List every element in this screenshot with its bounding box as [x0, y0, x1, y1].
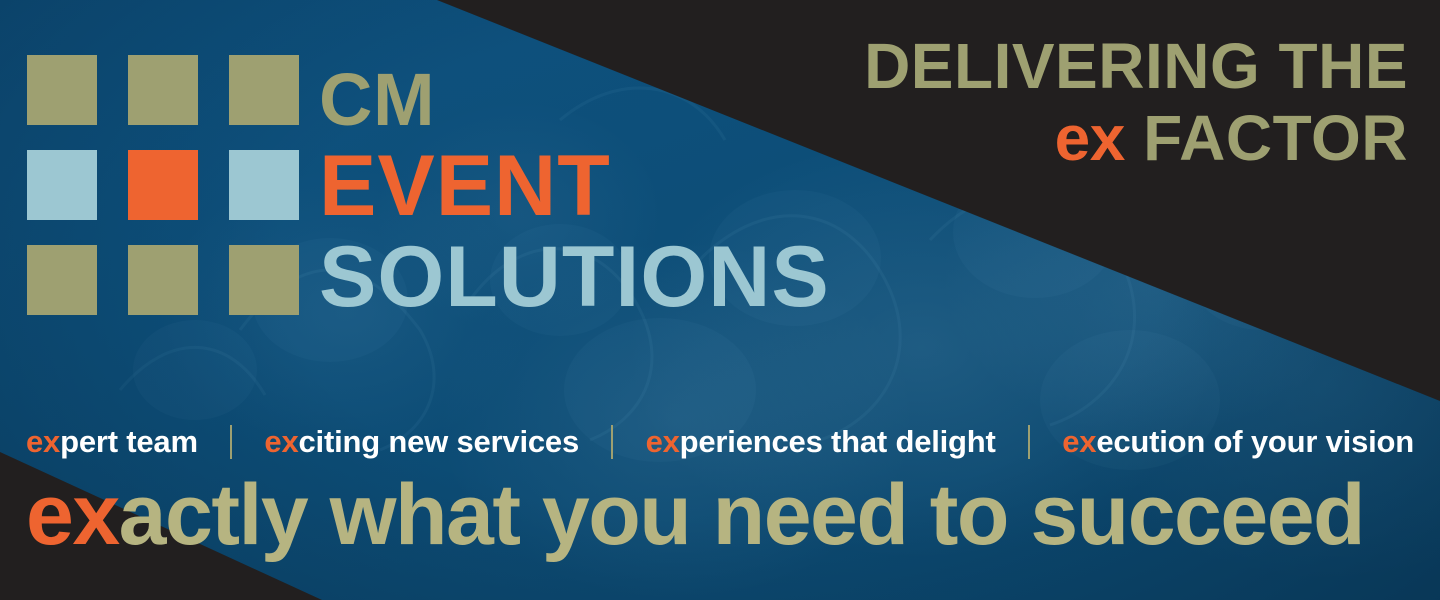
headline-line-2-rest: FACTOR: [1125, 102, 1408, 174]
headline-delivering-the-ex-factor: DELIVERING THE ex FACTOR: [864, 36, 1408, 169]
tagline-ex-accent-3: ex: [646, 424, 680, 459]
tagline-item-execution-of-your-vision: execution of your vision: [1062, 424, 1414, 460]
tagline-text-4: ecution of your vision: [1096, 424, 1414, 459]
tagline-ex-accent-1: ex: [26, 424, 60, 459]
logo-square-3: [229, 55, 299, 125]
logo-square-4: [27, 150, 97, 220]
bigline-rest: actly what you need to succeed: [119, 467, 1364, 563]
bigline-ex-accent: ex: [26, 467, 119, 563]
tagline-separator-2: [611, 425, 613, 459]
tagline-ex-accent-2: ex: [264, 424, 298, 459]
tagline-item-expert-team: expert team: [26, 424, 198, 460]
logo-square-8: [128, 245, 198, 315]
logo-square-1: [27, 55, 97, 125]
logo-square-grid: [27, 55, 299, 315]
headline-line-2: ex FACTOR: [864, 108, 1408, 169]
tagline-strip: expert team exciting new services experi…: [26, 424, 1414, 460]
logo-square-7: [27, 245, 97, 315]
logo-word-cm: CM: [319, 64, 830, 135]
tagline-separator-1: [230, 425, 232, 459]
headline-line-1: DELIVERING THE: [864, 36, 1408, 97]
logo-wordmark: CM EVENT SOLUTIONS: [319, 47, 830, 318]
tagline-item-experiences-that-delight: experiences that delight: [646, 424, 996, 460]
logo-square-6: [229, 150, 299, 220]
headline-exactly-what-you-need-to-succeed: exactly what you need to succeed: [26, 470, 1364, 560]
headline-ex-accent: ex: [1055, 102, 1125, 174]
tagline-text-3: periences that delight: [680, 424, 996, 459]
logo-square-2: [128, 55, 198, 125]
marketing-banner: CM EVENT SOLUTIONS DELIVERING THE ex FAC…: [0, 0, 1440, 600]
tagline-text-2: citing new services: [299, 424, 580, 459]
tagline-text-1: pert team: [60, 424, 198, 459]
tagline-item-exciting-new-services: exciting new services: [264, 424, 579, 460]
logo-square-9: [229, 245, 299, 315]
logo-word-event: EVENT: [319, 145, 830, 228]
logo-word-solutions: SOLUTIONS: [319, 236, 830, 319]
tagline-separator-3: [1028, 425, 1030, 459]
tagline-ex-accent-4: ex: [1062, 424, 1096, 459]
logo-square-5: [128, 150, 198, 220]
